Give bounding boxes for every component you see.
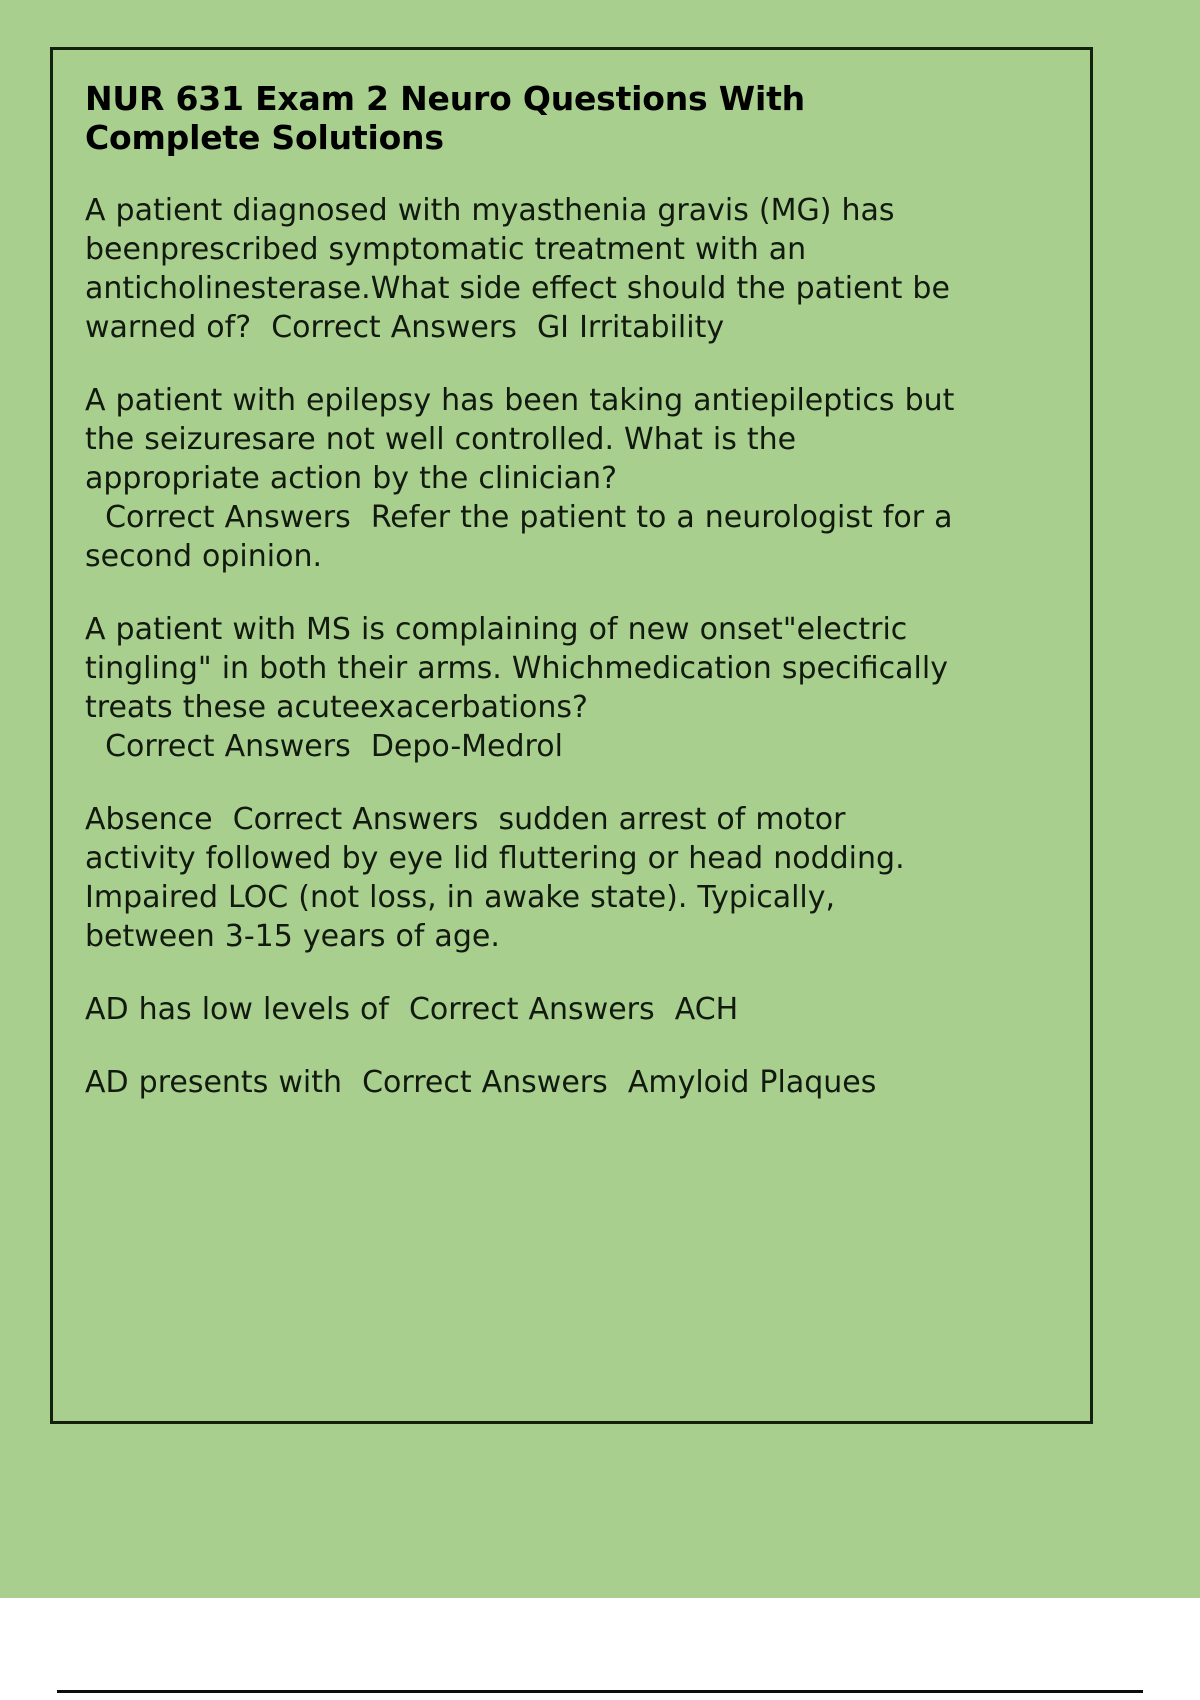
qa-item: A patient with epilepsy has been taking … — [85, 381, 955, 576]
answer-separator: Correct Answers — [85, 729, 371, 764]
question-text: A patient with MS is complaining of new … — [85, 612, 948, 725]
answer-separator: Correct Answers — [389, 992, 675, 1027]
answer-separator: Correct Answers — [85, 500, 371, 535]
answer-separator: Correct Answers — [213, 802, 499, 837]
next-page-divider — [57, 1690, 1143, 1693]
answer-separator: Correct Answers — [251, 310, 537, 345]
document-content: NUR 631 Exam 2 Neuro Questions With Comp… — [85, 80, 965, 1102]
answer-text: Depo-Medrol — [371, 729, 563, 764]
page-title: NUR 631 Exam 2 Neuro Questions With Comp… — [85, 80, 865, 157]
document-page: NUR 631 Exam 2 Neuro Questions With Comp… — [0, 0, 1200, 1598]
qa-item: AD has low levels of Correct Answers ACH — [85, 990, 955, 1029]
question-text: AD presents with — [85, 1065, 342, 1100]
qa-item: A patient with MS is complaining of new … — [85, 610, 955, 766]
answer-separator: Correct Answers — [342, 1065, 628, 1100]
qa-item: A patient diagnosed with myasthenia grav… — [85, 191, 955, 347]
qa-item: Absence Correct Answers sudden arrest of… — [85, 800, 955, 956]
question-text: Absence — [85, 802, 213, 837]
answer-text: GI Irritability — [537, 310, 724, 345]
question-text: AD has low levels of — [85, 992, 389, 1027]
answer-text: ACH — [675, 992, 739, 1027]
answer-text: Amyloid Plaques — [628, 1065, 877, 1100]
question-text: A patient with epilepsy has been taking … — [85, 383, 954, 496]
page-gap-band — [0, 1598, 1200, 1700]
qa-item: AD presents with Correct Answers Amyloid… — [85, 1063, 955, 1102]
